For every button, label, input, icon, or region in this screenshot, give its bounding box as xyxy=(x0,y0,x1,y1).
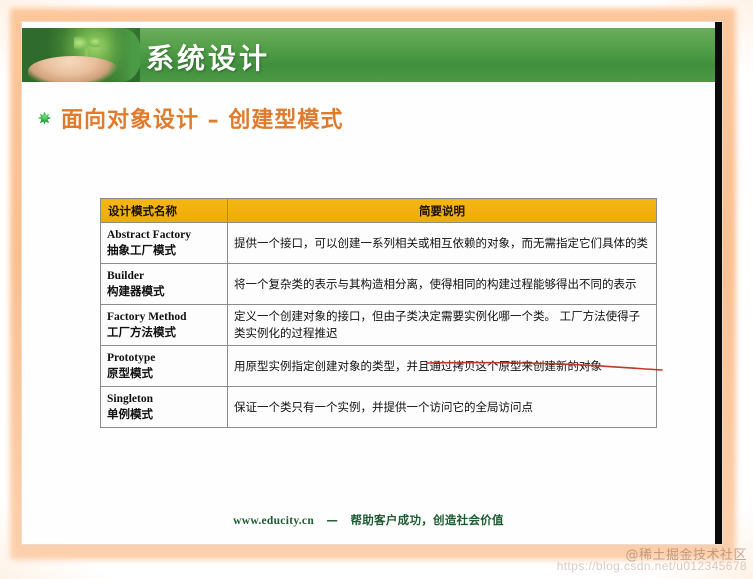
subtitle-text: 面向对象设计 – 创建型模式 xyxy=(61,102,343,134)
pattern-name-cell: Builder 构建器模式 xyxy=(101,264,228,305)
table-row: Abstract Factory 抽象工厂模式 提供一个接口，可以创建一系列相关… xyxy=(101,223,657,264)
table-header-row: 设计模式名称 简要说明 xyxy=(101,199,657,223)
table-head: 设计模式名称 简要说明 xyxy=(101,199,657,223)
pattern-desc-text: 用原型实例指定创建对象的类型，并且通过拷贝这个原型来创建新的对象 xyxy=(234,359,602,373)
table-row: Factory Method 工厂方法模式 定义一个创建对象的接口，但由子类决定… xyxy=(101,305,657,346)
pattern-name-cell: Factory Method 工厂方法模式 xyxy=(101,305,228,346)
pattern-name-en: Prototype xyxy=(107,351,221,366)
pattern-name-en: Factory Method xyxy=(107,310,221,325)
footer-slogan: 帮助客户成功，创造社会价值 xyxy=(350,513,503,527)
green-flower-bullet-icon xyxy=(37,111,52,126)
table-row: Prototype 原型模式 用原型实例指定创建对象的类型，并且通过拷贝这个原型… xyxy=(101,346,657,387)
photo-fade-mask xyxy=(108,28,140,82)
pattern-desc-cell: 用原型实例指定创建对象的类型，并且通过拷贝这个原型来创建新的对象 xyxy=(228,346,657,387)
pattern-name-en: Abstract Factory xyxy=(107,228,221,243)
slide-footer: www.educity.cn — 帮助客户成功，创造社会价值 xyxy=(22,512,715,528)
pattern-name-cell: Singleton 单例模式 xyxy=(101,387,228,428)
column-header-name: 设计模式名称 xyxy=(101,199,228,223)
pattern-desc-cell: 定义一个创建对象的接口，但由子类决定需要实例化哪一个类。 工厂方法使得子类实例化… xyxy=(228,305,657,346)
slide-right-black-bar xyxy=(715,22,722,544)
table-body: Abstract Factory 抽象工厂模式 提供一个接口，可以创建一系列相关… xyxy=(101,223,657,428)
sprout-photo xyxy=(22,28,140,82)
pattern-name-cell: Abstract Factory 抽象工厂模式 xyxy=(101,223,228,264)
pattern-name-en: Builder xyxy=(107,269,221,284)
slide-page: 系统设计 面向对象设计 – 创建型模式 设计模式名称 简要说明 xyxy=(0,0,753,579)
slide-canvas: 系统设计 面向对象设计 – 创建型模式 设计模式名称 简要说明 xyxy=(22,22,722,544)
pattern-desc-cell: 将一个复杂类的表示与其构造相分离，使得相同的构建过程能够得出不同的表示 xyxy=(228,264,657,305)
pattern-name-zh: 工厂方法模式 xyxy=(107,325,221,340)
pattern-name-zh: 构建器模式 xyxy=(107,284,221,299)
footer-url[interactable]: www.educity.cn xyxy=(233,515,314,527)
pattern-name-zh: 抽象工厂模式 xyxy=(107,243,221,258)
pattern-name-zh: 单例模式 xyxy=(107,407,221,422)
banner-title: 系统设计 xyxy=(146,37,270,77)
pattern-name-en: Singleton xyxy=(107,392,221,407)
hand-icon xyxy=(28,56,120,82)
subtitle-row: 面向对象设计 – 创建型模式 xyxy=(37,102,343,134)
title-banner: 系统设计 xyxy=(22,28,715,82)
table-row: Singleton 单例模式 保证一个类只有一个实例，并提供一个访问它的全局访问… xyxy=(101,387,657,428)
column-header-desc: 简要说明 xyxy=(228,199,657,223)
pattern-desc-cell: 保证一个类只有一个实例，并提供一个访问它的全局访问点 xyxy=(228,387,657,428)
footer-dash: — xyxy=(326,513,338,527)
design-pattern-table: 设计模式名称 简要说明 Abstract Factory 抽象工厂模式 提供一个… xyxy=(100,198,657,428)
pattern-desc-cell: 提供一个接口，可以创建一系列相关或相互依赖的对象，而无需指定它们具体的类 xyxy=(228,223,657,264)
table-row: Builder 构建器模式 将一个复杂类的表示与其构造相分离，使得相同的构建过程… xyxy=(101,264,657,305)
pattern-name-zh: 原型模式 xyxy=(107,366,221,381)
pattern-name-cell: Prototype 原型模式 xyxy=(101,346,228,387)
watermark-url: https://blog.csdn.net/u012345678 xyxy=(557,559,747,573)
